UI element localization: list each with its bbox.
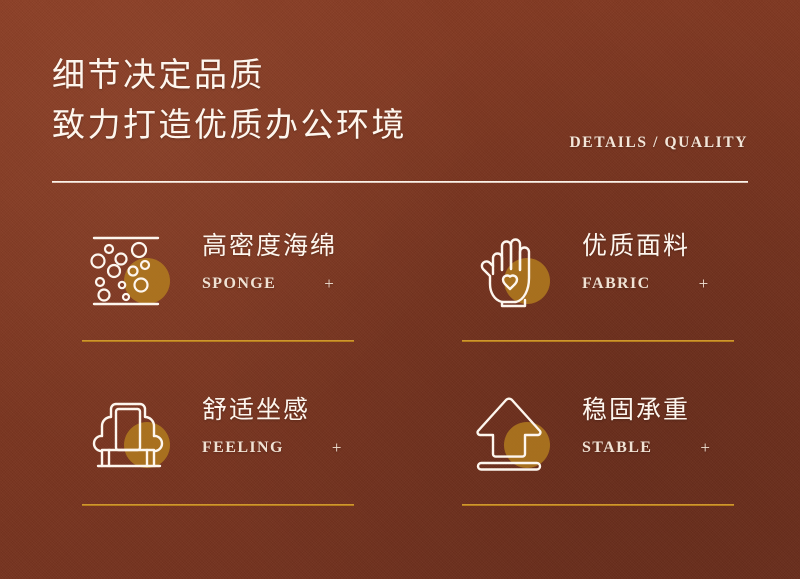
- feature-title: 高密度海绵: [202, 230, 337, 262]
- page-title: 细节决定品质 致力打造优质办公环境: [52, 52, 407, 148]
- feature-text-block: 高密度海绵 SPONGE +: [202, 226, 337, 294]
- feature-item-sponge[interactable]: 高密度海绵 SPONGE +: [52, 218, 368, 382]
- title-line-primary: 细节决定品质: [52, 52, 407, 98]
- feature-title: 稳固承重: [582, 394, 710, 426]
- feature-icon-wrap: [82, 392, 178, 476]
- title-line-secondary: 致力打造优质办公环境: [52, 102, 407, 148]
- up-arrow-base-icon: [462, 392, 558, 476]
- feature-subtitle-row: FEELING +: [202, 438, 341, 458]
- hand-heart-icon: [462, 228, 558, 312]
- details-quality-banner: 细节决定品质 致力打造优质办公环境 DETAILS / QUALITY: [0, 0, 800, 579]
- feature-title: 舒适坐感: [202, 394, 341, 426]
- header-subtitle-english: DETAILS / QUALITY: [569, 134, 748, 152]
- feature-title: 优质面料: [582, 230, 708, 262]
- feature-icon-wrap: [462, 392, 558, 476]
- header-divider: [52, 181, 748, 183]
- feature-subtitle-english: SPONGE: [202, 275, 276, 293]
- banner-header: 细节决定品质 致力打造优质办公环境 DETAILS / QUALITY: [52, 52, 748, 172]
- feature-grid: 高密度海绵 SPONGE +: [52, 218, 748, 546]
- armchair-icon: [82, 392, 178, 476]
- plus-icon[interactable]: +: [332, 438, 342, 458]
- feature-underline: [82, 504, 354, 506]
- feature-subtitle-row: SPONGE +: [202, 274, 337, 294]
- feature-underline: [462, 504, 734, 506]
- feature-subtitle-english: STABLE: [582, 439, 652, 457]
- feature-subtitle-row: STABLE +: [582, 438, 710, 458]
- feature-underline: [462, 340, 734, 342]
- plus-icon[interactable]: +: [324, 274, 334, 294]
- sponge-bubbles-icon: [82, 228, 178, 312]
- feature-text-block: 舒适坐感 FEELING +: [202, 390, 341, 458]
- feature-subtitle-english: FEELING: [202, 439, 284, 457]
- feature-item-feeling[interactable]: 舒适坐感 FEELING +: [52, 382, 368, 546]
- feature-text-block: 优质面料 FABRIC +: [582, 226, 708, 294]
- feature-item-fabric[interactable]: 优质面料 FABRIC +: [432, 218, 748, 382]
- feature-text-block: 稳固承重 STABLE +: [582, 390, 710, 458]
- feature-icon-wrap: [462, 228, 558, 312]
- feature-item-stable[interactable]: 稳固承重 STABLE +: [432, 382, 748, 546]
- plus-icon[interactable]: +: [699, 274, 709, 294]
- feature-subtitle-english: FABRIC: [582, 275, 651, 293]
- plus-icon[interactable]: +: [700, 438, 710, 458]
- feature-subtitle-row: FABRIC +: [582, 274, 708, 294]
- feature-icon-wrap: [82, 228, 178, 312]
- feature-underline: [82, 340, 354, 342]
